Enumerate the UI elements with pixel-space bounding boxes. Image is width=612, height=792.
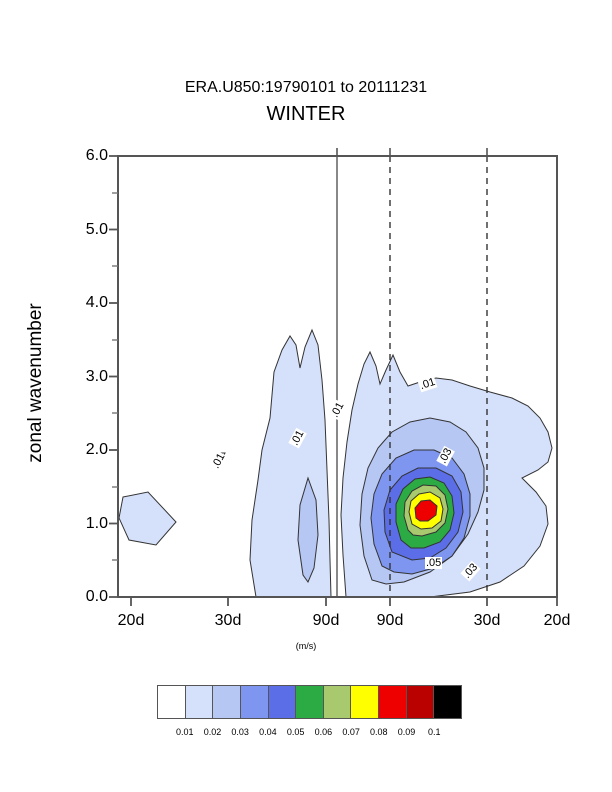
x-axis-top-ticks [337,148,487,156]
colorbar-swatch-4 [269,686,297,718]
figure-canvas: ERA.U850:19790101 to 20111231 WINTER zon… [0,0,612,792]
contour-label: .05 [425,557,442,569]
contour-fill-group [119,156,552,597]
colorbar-swatch-9 [407,686,435,718]
contour-band-0.01 [119,492,176,545]
colorbar-swatch-2 [213,686,241,718]
colorbar-swatch-1 [186,686,214,718]
colorbar-swatch-0 [158,686,186,718]
colorbar-swatch-5 [296,686,324,718]
colorbar-swatch-6 [324,686,352,718]
spectrum-plot [0,0,612,792]
y-axis-major-ticks [109,156,118,597]
colorbar-swatch-10 [434,686,461,718]
colorbar [157,685,462,719]
colorbar-swatch-8 [379,686,407,718]
contour-band-0.01 [250,330,331,597]
x-axis-major-ticks [131,597,557,606]
colorbar-tick-label: 0.1 [414,727,454,737]
colorbar-swatch-7 [351,686,379,718]
colorbar-swatch-3 [241,686,269,718]
colorbar-units-label: (m/s) [0,641,612,651]
